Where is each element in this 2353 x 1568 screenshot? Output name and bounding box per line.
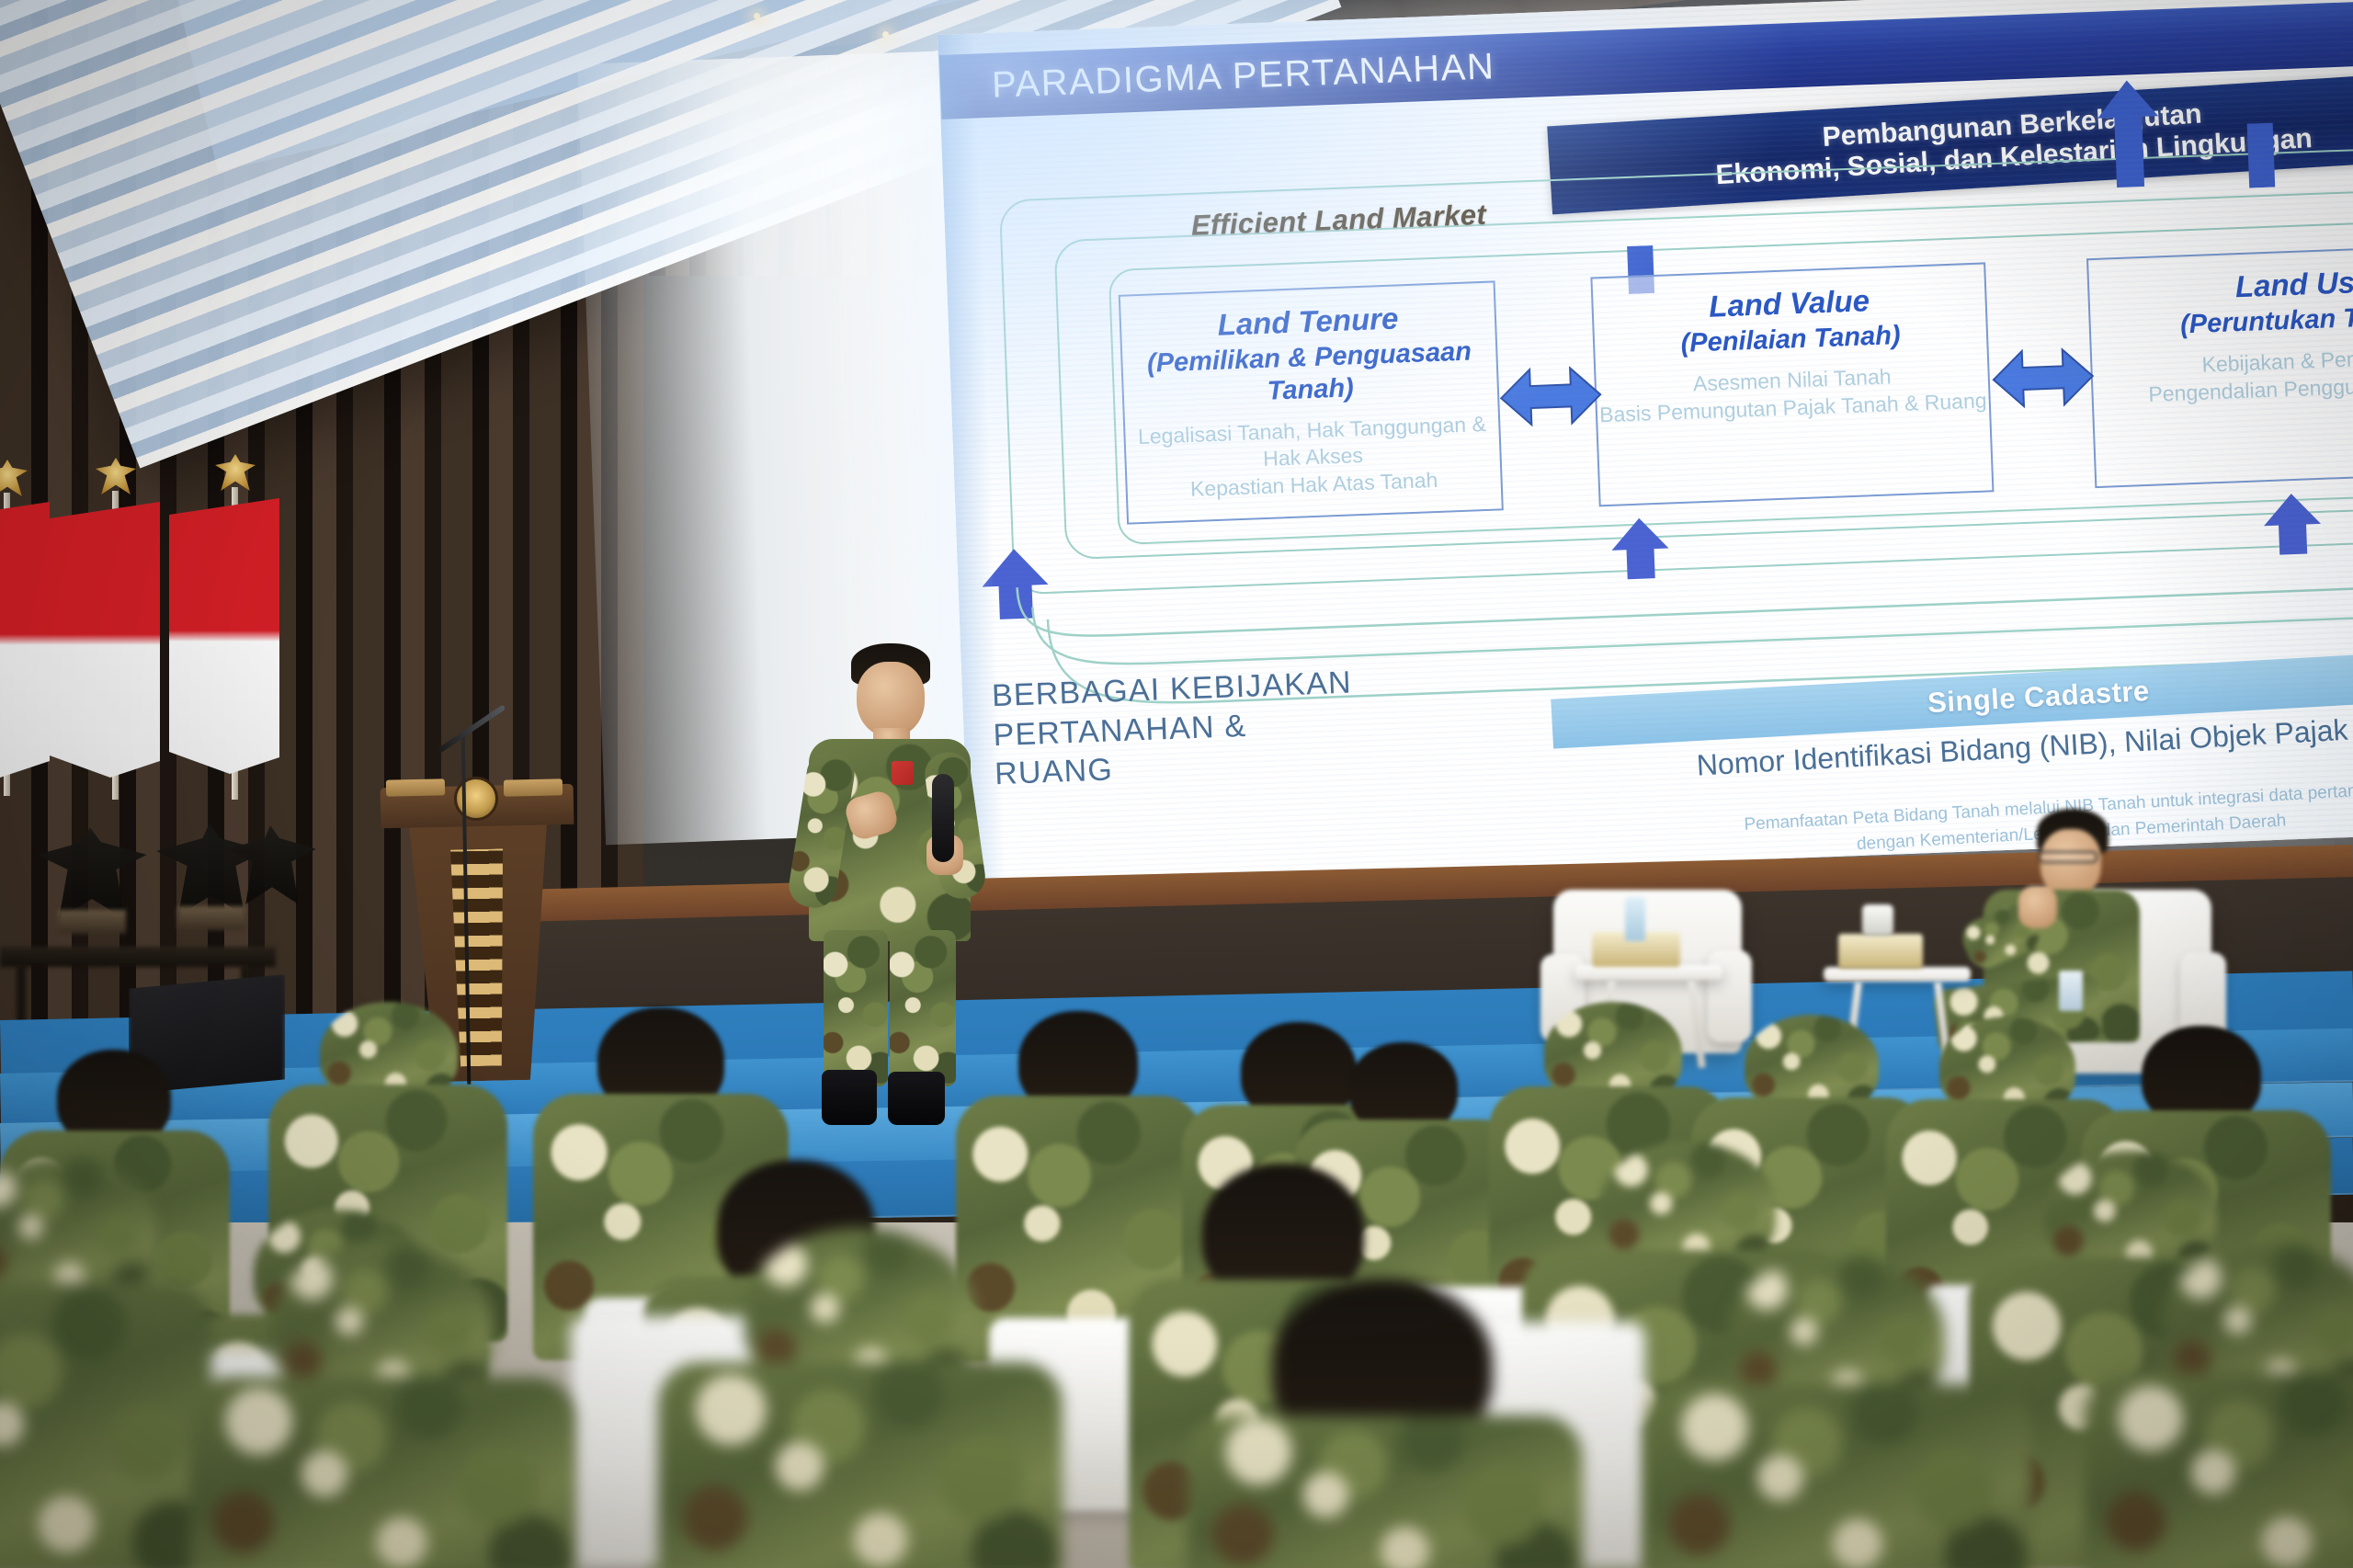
arrow-double-value-use-icon	[1990, 339, 2096, 416]
audience-body	[189, 1377, 575, 1568]
audience-body	[2085, 1373, 2353, 1568]
audience-body	[1188, 1415, 1583, 1568]
presentation-scene: PARADIGMA PERTANAHAN Pembangunan Berkela…	[0, 0, 2353, 1568]
indonesian-flag	[169, 498, 279, 774]
arrow-double-tenure-value-icon	[1498, 358, 1604, 435]
slide-surface: PARADIGMA PERTANAHAN Pembangunan Berkela…	[938, 0, 2353, 889]
arrow-up-right-stub-icon	[2242, 122, 2281, 187]
arrow-up-to-sdg-icon	[2095, 77, 2163, 190]
side-console-table	[0, 947, 276, 967]
pillar-land-use: Land Use (Peruntukan Tanah) Kebijakan & …	[2086, 243, 2353, 488]
official-name-badge	[2059, 971, 2083, 1011]
indonesian-flag	[50, 502, 160, 778]
pillar-title-en: Land Value	[1709, 283, 1870, 324]
handheld-microphone-icon	[932, 774, 954, 862]
presenter-flag-patch-icon	[892, 761, 914, 785]
pillar-title-id: (Penilaian Tanah)	[1680, 320, 1901, 360]
audience-body	[0, 1283, 211, 1568]
presenter-right-boot	[888, 1072, 945, 1125]
pillar-details: Kebijakan & Penataan Pengendalian Penggu…	[2147, 342, 2353, 409]
single-cadastre-title: Single Cadastre	[1927, 675, 2150, 720]
side-table-top-right	[1824, 967, 1971, 982]
slide-title-text: PARADIGMA PERTANAHAN	[991, 46, 1495, 107]
official-hand-at-chin	[2018, 886, 2057, 928]
audience-body	[658, 1362, 1063, 1568]
indonesian-flag	[0, 502, 50, 778]
pillar-title-en: Land Tenure	[1217, 301, 1399, 343]
refreshment-tray	[1838, 934, 1923, 969]
pillar-land-value: Land Value (Penilaian Tanah) Asesmen Nil…	[1590, 262, 1994, 506]
projection-screen: PARADIGMA PERTANAHAN Pembangunan Berkela…	[938, 0, 2353, 889]
presenter	[792, 643, 976, 1094]
policy-caption: BERBAGAI KEBIJAKAN PERTANAHAN & RUANG	[991, 664, 1355, 794]
pillar-title-id: (Pemilikan & Penguasaan Tanah)	[1122, 335, 1497, 413]
audience-body	[1645, 1384, 2031, 1568]
statue-pedestal	[177, 906, 245, 930]
presenter-right-leg	[890, 930, 956, 1086]
pillar-land-tenure: Land Tenure (Pemilikan & Penguasaan Tana…	[1119, 280, 1504, 524]
pillar-title-en: Land Use	[2234, 265, 2353, 305]
eyeglasses-icon	[2039, 851, 2097, 863]
armchair-arm-right	[1708, 950, 1752, 1042]
ceiling-pinlight-icon	[882, 31, 889, 38]
teapot	[1862, 904, 1893, 936]
statue-pedestal	[58, 910, 126, 934]
presenter-face	[857, 662, 925, 737]
podium-ledge-left	[386, 778, 445, 796]
official-face	[2040, 829, 2101, 897]
presenter-left-leg	[824, 930, 888, 1086]
pillar-details: Asesmen Nilai Tanah Basis Pemungutan Paj…	[1598, 359, 1987, 429]
podium-ledge-right	[504, 778, 563, 796]
ceiling-pinlight-icon	[754, 13, 760, 19]
water-bottle	[1625, 897, 1645, 941]
pillar-title-id: (Peruntukan Tanah)	[2180, 300, 2353, 341]
presenter-left-boot	[822, 1070, 877, 1125]
side-table-top-left	[1575, 965, 1722, 980]
garuda-pancasila-emblem-icon	[454, 777, 498, 821]
pillar-details: Legalisasi Tanah, Hak Tanggungan & Hak A…	[1125, 410, 1501, 506]
